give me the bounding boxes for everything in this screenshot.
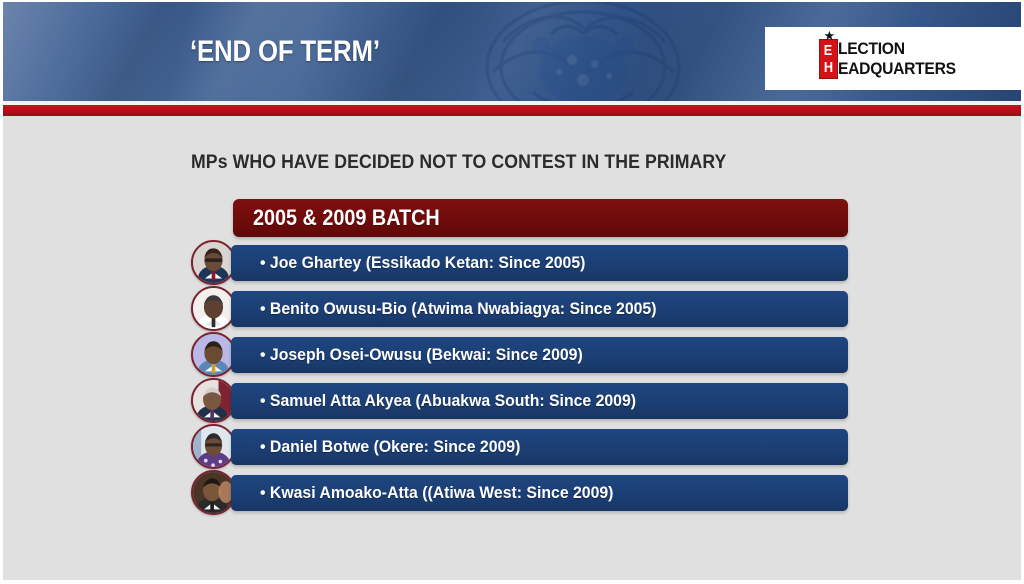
mp-list: • Joe Ghartey (Essikado Ketan: Since 200… [3,245,1024,521]
election-headquarters-logo: ★ E H LECTION EADQUARTERS [765,27,1024,90]
list-item: • Benito Owusu-Bio (Atwima Nwabiagya: Si… [3,291,1024,327]
batch-header-bar: 2005 & 2009 BATCH [233,199,848,237]
list-item: • Daniel Botwe (Okere: Since 2009) [3,429,1024,465]
logo-letter-h: H [823,59,832,76]
logo-word-election: LECTION [838,39,956,59]
avatar [191,424,236,469]
mp-name-label: • Joe Ghartey (Essikado Ketan: Since 200… [260,253,585,273]
star-icon: ★ [824,29,836,42]
mp-row-bar: • Benito Owusu-Bio (Atwima Nwabiagya: Si… [231,291,848,327]
mp-row-bar: • Joseph Osei-Owusu (Bekwai: Since 2009) [231,337,848,373]
mp-name-label: • Benito Owusu-Bio (Atwima Nwabiagya: Si… [260,299,656,319]
section-heading: MPs WHO HAVE DECIDED NOT TO CONTEST IN T… [191,152,726,174]
avatar [191,378,236,423]
mp-name-label: • Daniel Botwe (Okere: Since 2009) [260,437,520,457]
list-item: • Kwasi Amoako-Atta ((Atiwa West: Since … [3,475,1024,511]
page-title: ‘END OF TERM’ [190,35,380,69]
mp-row-bar: • Kwasi Amoako-Atta ((Atiwa West: Since … [231,475,848,511]
mp-name-label: • Samuel Atta Akyea (Abuakwa South: Sinc… [260,391,636,411]
mp-row-bar: • Joe Ghartey (Essikado Ketan: Since 200… [231,245,848,281]
avatar [191,332,236,377]
mp-row-bar: • Daniel Botwe (Okere: Since 2009) [231,429,848,465]
eagle-seal-watermark-icon [433,0,733,101]
avatar [191,240,236,285]
list-item: • Joe Ghartey (Essikado Ketan: Since 200… [3,245,1024,281]
slide-canvas: ‘END OF TERM’ ★ E H LECTION EADQUARTERS … [0,0,1024,584]
batch-header-label: 2005 & 2009 BATCH [253,205,440,231]
header-banner: ‘END OF TERM’ ★ E H LECTION EADQUARTERS [3,0,1024,101]
avatar [191,286,236,331]
list-item: • Joseph Osei-Owusu (Bekwai: Since 2009) [3,337,1024,373]
red-accent-stripe [3,105,1024,116]
mp-name-label: • Joseph Osei-Owusu (Bekwai: Since 2009) [260,345,583,365]
mp-name-label: • Kwasi Amoako-Atta ((Atiwa West: Since … [260,483,613,503]
avatar [191,470,236,515]
logo-red-bar-icon: ★ E H [819,39,838,79]
mp-row-bar: • Samuel Atta Akyea (Abuakwa South: Sinc… [231,383,848,419]
logo-letter-e: E [824,42,833,59]
slide-body: MPs WHO HAVE DECIDED NOT TO CONTEST IN T… [3,116,1024,584]
list-item: • Samuel Atta Akyea (Abuakwa South: Sinc… [3,383,1024,419]
logo-word-headquarters: EADQUARTERS [838,59,956,79]
